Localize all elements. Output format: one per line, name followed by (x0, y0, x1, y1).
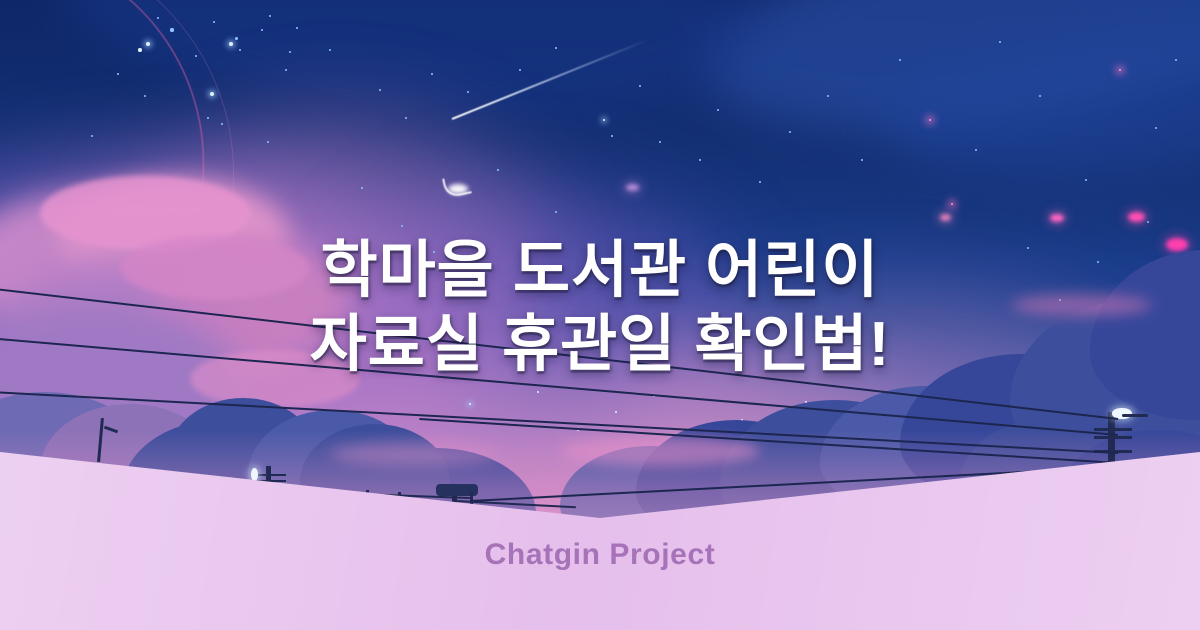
star-icon (555, 47, 557, 49)
star-icon (285, 69, 287, 71)
star-icon (210, 92, 214, 96)
pole-crossarm (1094, 428, 1132, 431)
star-icon (431, 73, 433, 75)
shooting-star-head-icon (448, 184, 468, 194)
star-icon (827, 95, 829, 97)
star-icon (91, 135, 93, 137)
star-icon (170, 28, 173, 31)
glow-dot-icon (1050, 214, 1064, 222)
glow-dot-icon (1128, 212, 1145, 222)
star-icon (235, 37, 238, 40)
star-icon (401, 225, 403, 227)
brand-footer-label: Chatgin Project (0, 538, 1200, 572)
glow-dot-icon (626, 184, 639, 191)
pole-crossarm (1094, 436, 1132, 439)
street-lamp-icon (251, 468, 258, 481)
page-title: 학마을 도서관 어린이 자료실 휴관일 확인법! (0, 234, 1200, 382)
star-icon (138, 48, 142, 52)
star-icon (239, 49, 241, 51)
thumbnail-banner: 학마을 도서관 어린이 자료실 휴관일 확인법! Chatgin Project (0, 0, 1200, 630)
star-icon (639, 85, 641, 87)
star-icon (497, 169, 499, 171)
glow-dot-icon (940, 214, 951, 221)
lamp-arm (1122, 414, 1148, 417)
star-icon (717, 109, 719, 111)
